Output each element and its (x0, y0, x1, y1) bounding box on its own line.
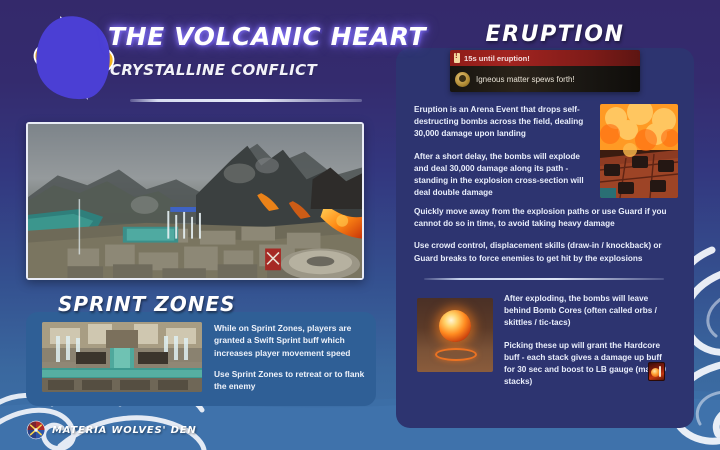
bomb-core-ring (435, 348, 477, 361)
wolves-den-crest-icon (26, 420, 46, 440)
sprint-paragraph-2: Use Sprint Zones to retreat or to flank … (214, 368, 374, 393)
bomb-core-orb (439, 310, 471, 342)
eruption-description-top: Eruption is an Arena Event that drops se… (414, 104, 596, 199)
footer-text: MATERIA WOLVES' DEN (52, 425, 197, 436)
npc-avatar-icon (455, 72, 470, 87)
eruption-paragraph-4: Use crowd control, displacement skills (… (414, 240, 676, 264)
eruption-heading: ERUPTION (390, 22, 720, 47)
core-paragraph-1: After exploding, the bombs will leave be… (504, 293, 674, 330)
page-subtitle: CRYSTALLINE CONFLICT (110, 61, 317, 79)
section-divider (424, 278, 664, 280)
eruption-explosion-image (600, 104, 678, 198)
eruption-warning-row: 15s until eruption! (450, 50, 640, 66)
page-title: THE VOLCANIC HEART (108, 22, 426, 51)
title-divider (130, 99, 362, 102)
hardcore-buff-icon (648, 362, 665, 381)
sprint-paragraph-1: While on Sprint Zones, players are grant… (214, 322, 374, 359)
eruption-message-row: Igneous matter spews forth! (450, 66, 640, 92)
footer-badge: MATERIA WOLVES' DEN (26, 420, 197, 440)
bomb-core-image (417, 298, 493, 372)
eruption-alert-banner: 15s until eruption! Igneous matter spews… (450, 50, 640, 92)
sprint-zones-description: While on Sprint Zones, players are grant… (214, 322, 374, 392)
eruption-warning-text: 15s until eruption! (464, 54, 530, 63)
page-header: THE VOLCANIC HEART CRYSTALLINE CONFLICT (0, 0, 390, 112)
eruption-message-text: Igneous matter spews forth! (476, 75, 575, 84)
sprint-zone-image (42, 322, 202, 392)
eruption-paragraph-1: Eruption is an Arena Event that drops se… (414, 104, 596, 141)
eruption-paragraph-3: Quickly move away from the explosion pat… (414, 206, 676, 230)
eruption-paragraph-2: After a short delay, the bombs will expl… (414, 151, 596, 200)
exclamation-icon (454, 53, 460, 63)
sprint-zones-heading: SPRINT ZONES (58, 292, 236, 316)
arena-map-image (26, 122, 364, 280)
eruption-description-mid: Quickly move away from the explosion pat… (414, 206, 676, 265)
